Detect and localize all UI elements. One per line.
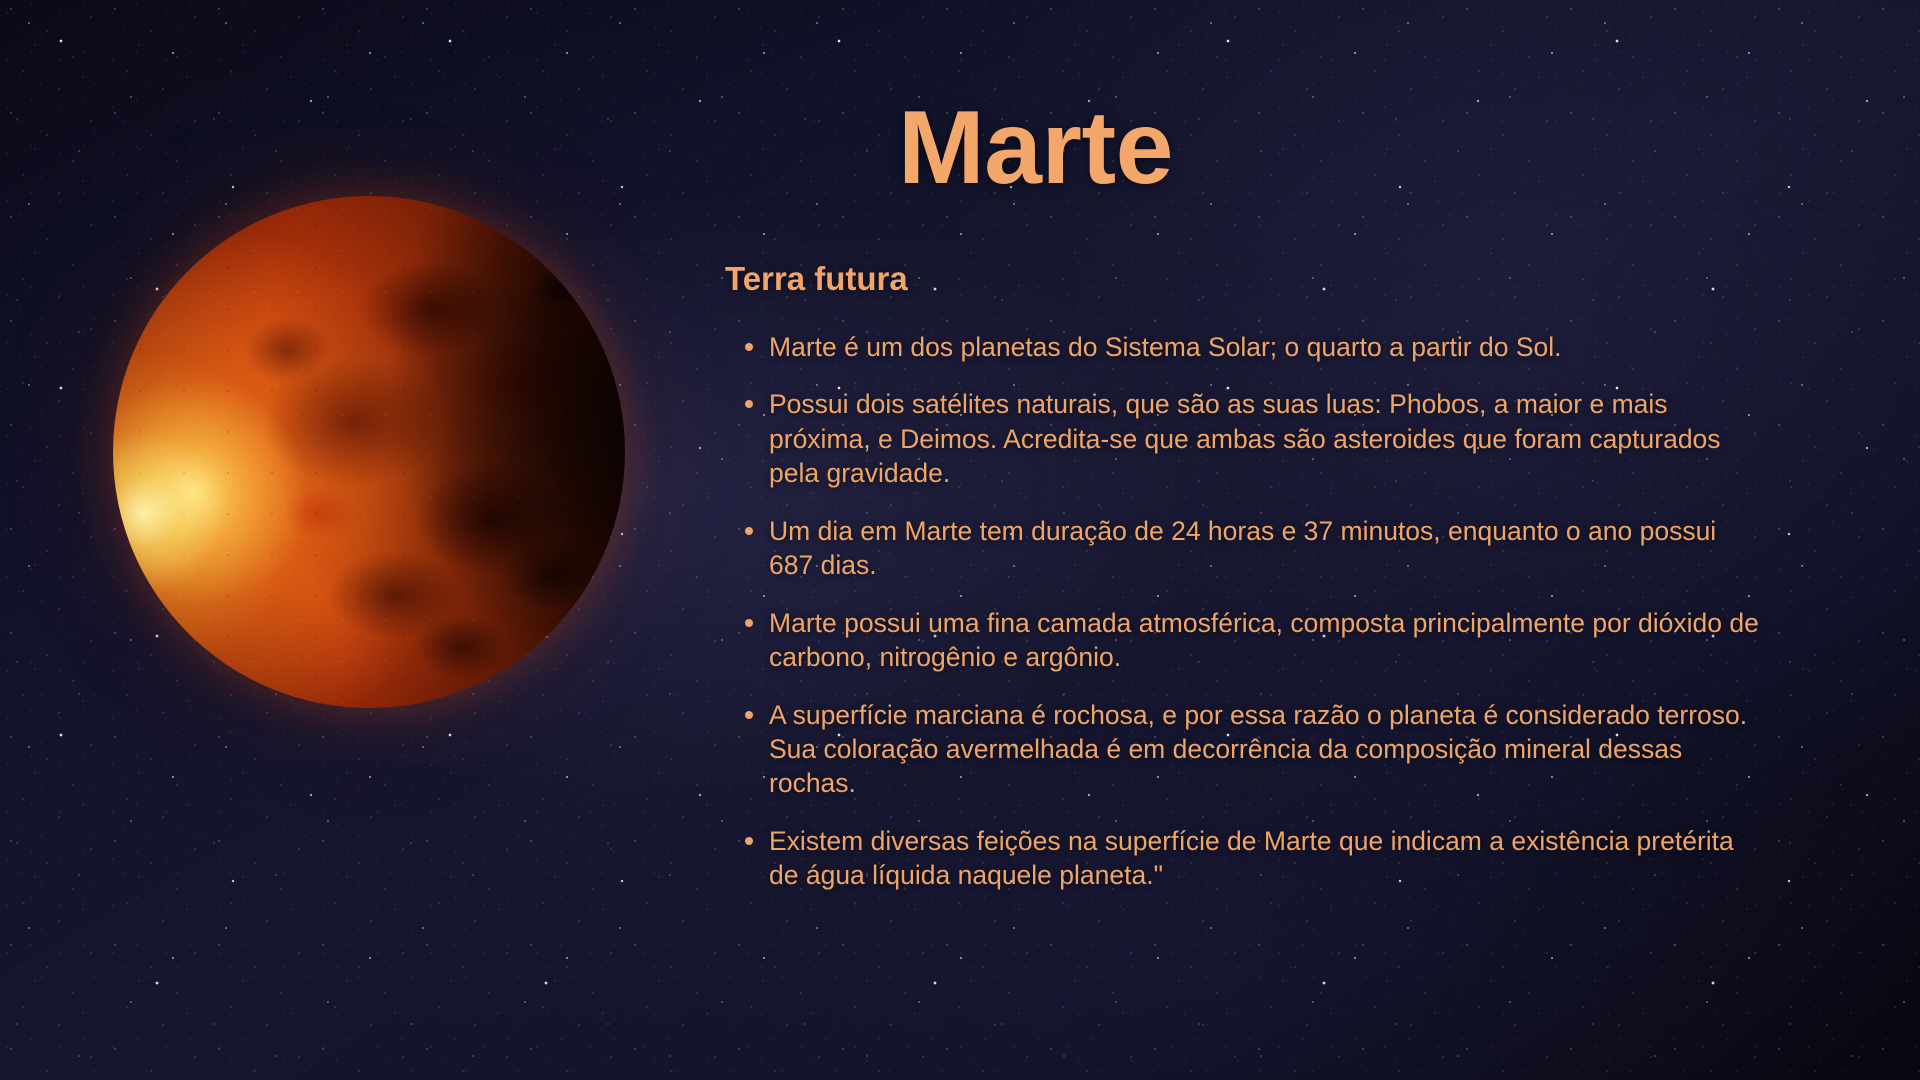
mars-planet-sphere — [113, 196, 625, 708]
list-item: Um dia em Marte tem duração de 24 horas … — [731, 514, 1761, 583]
presentation-slide: Marte Terra futura Marte é um dos planet… — [0, 0, 1920, 1080]
list-item: A superfície marciana é rochosa, e por e… — [731, 698, 1761, 801]
slide-text-column: Marte Terra futura Marte é um dos planet… — [723, 0, 1863, 1080]
list-item: Marte possui uma fina camada atmosférica… — [731, 606, 1761, 675]
page-title: Marte — [898, 96, 1173, 200]
page-subtitle: Terra futura — [725, 260, 908, 298]
mars-terminator-shadow — [113, 196, 625, 708]
list-item: Possui dois satélites naturais, que são … — [731, 387, 1761, 490]
bullet-list: Marte é um dos planetas do Sistema Solar… — [731, 330, 1761, 916]
list-item: Marte é um dos planetas do Sistema Solar… — [731, 330, 1761, 364]
list-item: Existem diversas feições na superfície d… — [731, 824, 1761, 893]
mars-planet-image — [113, 196, 625, 708]
